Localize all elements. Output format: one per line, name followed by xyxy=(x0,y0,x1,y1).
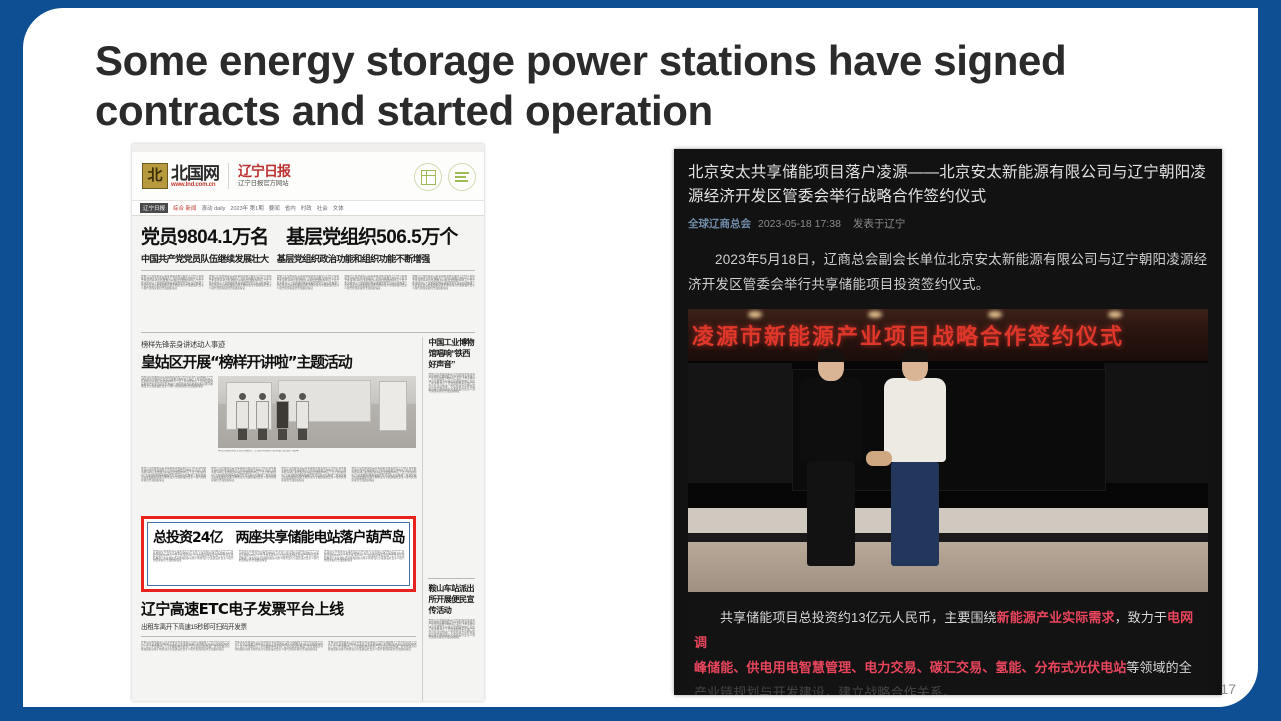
article-location: 发表于辽宁 xyxy=(853,218,906,230)
body-text: 本报讯记者报道近日省委组织部发布最新党内统计数据截至2023年6月底中国共产党党… xyxy=(141,641,230,687)
nav-item-4[interactable]: 要闻 xyxy=(269,204,280,212)
body-text: 本报讯记者报道近日省委组织部发布最新党内统计数据截至2023年6月底中国共产党党… xyxy=(141,376,213,464)
article-meta: 全球辽商总会2023-05-18 17:38发表于辽宁 xyxy=(674,209,1222,231)
caption-highlight-c: 峰储能、供电用电智慧管理、电力交易、碳汇交易、氢能、分布式光伏电站 xyxy=(694,660,1126,675)
article-body-paragraph: 2023年5月18日，辽商总会副会长单位北京安太新能源有限公司与辽宁朝阳凌源经济… xyxy=(674,231,1222,297)
highlighted-story-box: 总投资24亿 两座共享储能电站落户葫芦岛 本报讯记者报道近日省委组织部发布最新党… xyxy=(141,516,416,592)
page-title: Some energy storage power stations have … xyxy=(95,36,1095,135)
menu-icon[interactable] xyxy=(448,163,476,191)
lead-headline: 党员9804.1万名 基层党组织506.5万个 xyxy=(141,222,475,249)
body-text: 本报讯记者报道近日省委组织部发布最新党内统计数据截至2023年6月底中国共产党党… xyxy=(428,373,475,573)
body-text: 本报讯记者报道近日省委组织部发布最新党内统计数据截至2023年6月底中国共产党党… xyxy=(344,275,407,327)
sidebar-headline-2: 鞍山车站派出所开展便民宣传活动 xyxy=(428,583,475,616)
newspaper-scan: 北 北国网 www.lnd.com.cn 辽宁日报 辽宁日报官方网站 辽宁日报 … xyxy=(132,144,484,701)
newspaper-page-content: 党员9804.1万名 基层党组织506.5万个 中国共产党党员队伍继续发展壮大 … xyxy=(132,216,484,701)
story4-headline: 辽宁高速ETC电子发票平台上线 xyxy=(141,598,416,619)
body-text: 本报讯记者报道近日省委组织部发布最新党内统计数据截至2023年6月底中国共产党党… xyxy=(351,467,416,511)
rule-1 xyxy=(141,270,475,271)
liaoning-daily-brand: 辽宁日报 辽宁日报官方网站 xyxy=(238,165,290,188)
caption-line-3: 产业链规划与开发建设，建立战略合作关系。 xyxy=(694,680,1202,695)
rule-2 xyxy=(141,332,475,333)
body-text: 本报讯记者报道近日省委组织部发布最新党内统计数据截至2023年6月底中国共产党党… xyxy=(281,467,346,511)
slide-inner-panel: Some energy storage power stations have … xyxy=(23,8,1258,707)
person-left xyxy=(800,350,862,566)
nav-item-3[interactable]: 2023年 第1期 xyxy=(230,204,263,212)
article-title: 北京安太共享储能项目落户凌源——北京安太新能源有限公司与辽宁朝阳凌源经济开发区管… xyxy=(674,149,1222,209)
body-text: 本报讯记者报道近日省委组织部发布最新党内统计数据截至2023年6月底中国共产党党… xyxy=(277,275,340,327)
story2-kicker: 榜样先锋亲身讲述动人事迹 xyxy=(141,339,416,350)
newspaper-sidebar-column: 中国工业博物馆唱响“铁西好声音” 本报讯记者报道近日省委组织部发布最新党内统计数… xyxy=(422,337,475,701)
led-banner: 凌源市新能源产业项目战略合作签约仪式 xyxy=(688,309,1208,361)
body-text: 本报讯记者报道近日省委组织部发布最新党内统计数据截至2023年6月底中国共产党党… xyxy=(239,550,320,580)
story2-headline: 皇姑区开展“榜样开讲啦”主题活动 xyxy=(141,351,416,372)
nav-item-1[interactable]: 综合 新闻 xyxy=(173,204,197,212)
caption-plain-a: 共享储能项目总投资约13亿元人民币，主要围绕 xyxy=(720,610,997,625)
body-text: 本报讯记者报道近日省委组织部发布最新党内统计数据截至2023年6月底中国共产党党… xyxy=(328,641,417,687)
caption-highlight-a: 新能源产业实际需求 xyxy=(997,610,1115,625)
nav-item-7[interactable]: 社会 xyxy=(317,204,328,212)
newspaper-navbar: 辽宁日报 综合 新闻 滚动 daily 2023年 第1期 要闻 省内 时政 社… xyxy=(132,201,484,216)
nav-item-6[interactable]: 时政 xyxy=(301,204,312,212)
liaoning-daily-subtitle: 辽宁日报官方网站 xyxy=(238,181,290,188)
article-account-name[interactable]: 全球辽商总会 xyxy=(688,218,751,230)
beiguo-logo-name: 北国网 xyxy=(171,165,219,182)
body-text: 本报讯记者报道近日省委组织部发布最新党内统计数据截至2023年6月底中国共产党党… xyxy=(412,275,475,327)
calendar-icon[interactable] xyxy=(414,163,442,191)
body-text: 本报讯记者报道近日省委组织部发布最新党内统计数据截至2023年6月底中国共产党党… xyxy=(235,641,324,687)
caption-plain-b: ，致力于 xyxy=(1115,610,1167,625)
nav-item-5[interactable]: 省内 xyxy=(285,204,296,212)
page-number: 17 xyxy=(1220,681,1236,697)
body-text: 本报讯记者报道近日省委组织部发布最新党内统计数据截至2023年6月底中国共产党党… xyxy=(324,550,405,580)
story4-subhead: 出租车离开下高速15秒即可扫码开发票 xyxy=(141,621,416,631)
body-text: 本报讯记者报道近日省委组织部发布最新党内统计数据截至2023年6月底中国共产党党… xyxy=(209,275,272,327)
person-right xyxy=(884,350,946,566)
body-text: 本报讯记者报道近日省委组织部发布最新党内统计数据截至2023年6月底中国共产党党… xyxy=(211,467,276,511)
article-caption: 共享储能项目总投资约13亿元人民币，主要围绕新能源产业实际需求，致力于电网调峰储… xyxy=(688,601,1208,695)
body-text: 本报讯记者报道近日省委组织部发布最新党内统计数据截至2023年6月底中国共产党党… xyxy=(428,619,475,701)
highlight-headline: 总投资24亿 两座共享储能电站落户葫芦岛 xyxy=(153,527,404,547)
lead-subhead: 中国共产党党员队伍继续发展壮大 基层党组织政治功能和组织功能不断增强 xyxy=(141,251,475,265)
body-text: 本报讯记者报道近日省委组织部发布最新党内统计数据截至2023年6月底中国共产党党… xyxy=(153,550,234,580)
article-photo: 凌源市新能源产业项目战略合作签约仪式 xyxy=(688,309,1208,592)
body-text: 本报讯记者报道近日省委组织部发布最新党内统计数据截至2023年6月底中国共产党党… xyxy=(141,275,204,327)
wechat-article-screenshot: 北京安太共享储能项目落户凌源——北京安太新能源有限公司与辽宁朝阳凌源经济开发区管… xyxy=(674,149,1222,695)
body-text: 本报讯记者报道近日省委组织部发布最新党内统计数据截至2023年6月底中国共产党党… xyxy=(141,467,206,511)
paper-top-edge xyxy=(132,144,484,152)
masthead-icon-group xyxy=(414,163,476,191)
photo-people-group xyxy=(236,393,309,440)
handshake xyxy=(866,451,892,466)
nav-item-2[interactable]: 滚动 daily xyxy=(202,204,226,212)
lead-columns: 本报讯记者报道近日省委组织部发布最新党内统计数据截至2023年6月底中国共产党党… xyxy=(141,275,475,327)
story2-photo-caption: 本次活动邀请到全国劳动模范、全国文明家庭代表等嘉宾讲述奋斗故事 xyxy=(218,450,416,464)
newspaper-masthead: 北 北国网 www.lnd.com.cn 辽宁日报 辽宁日报官方网站 xyxy=(132,152,484,201)
liaoning-daily-name: 辽宁日报 xyxy=(238,165,290,179)
beiguo-logo-mark: 北 xyxy=(142,163,168,189)
beiguo-logo-text: 北国网 www.lnd.com.cn xyxy=(171,165,219,188)
article-date: 2023-05-18 17:38 xyxy=(758,218,841,230)
led-banner-text: 凌源市新能源产业项目战略合作签约仪式 xyxy=(688,319,1124,351)
photo-room xyxy=(688,361,1208,592)
caption-plain-c: 等领域的全 xyxy=(1126,660,1192,675)
story2-photo xyxy=(218,376,416,448)
masthead-divider xyxy=(228,163,229,189)
slide-frame: Some energy storage power stations have … xyxy=(0,0,1281,721)
sidebar-headline-1: 中国工业博物馆唱响“铁西好声音” xyxy=(428,337,475,370)
nav-item-0[interactable]: 辽宁日报 xyxy=(140,203,168,213)
nav-item-8[interactable]: 文体 xyxy=(333,204,344,212)
rule-3 xyxy=(141,636,416,637)
beiguo-logo-url: www.lnd.com.cn xyxy=(171,182,219,188)
